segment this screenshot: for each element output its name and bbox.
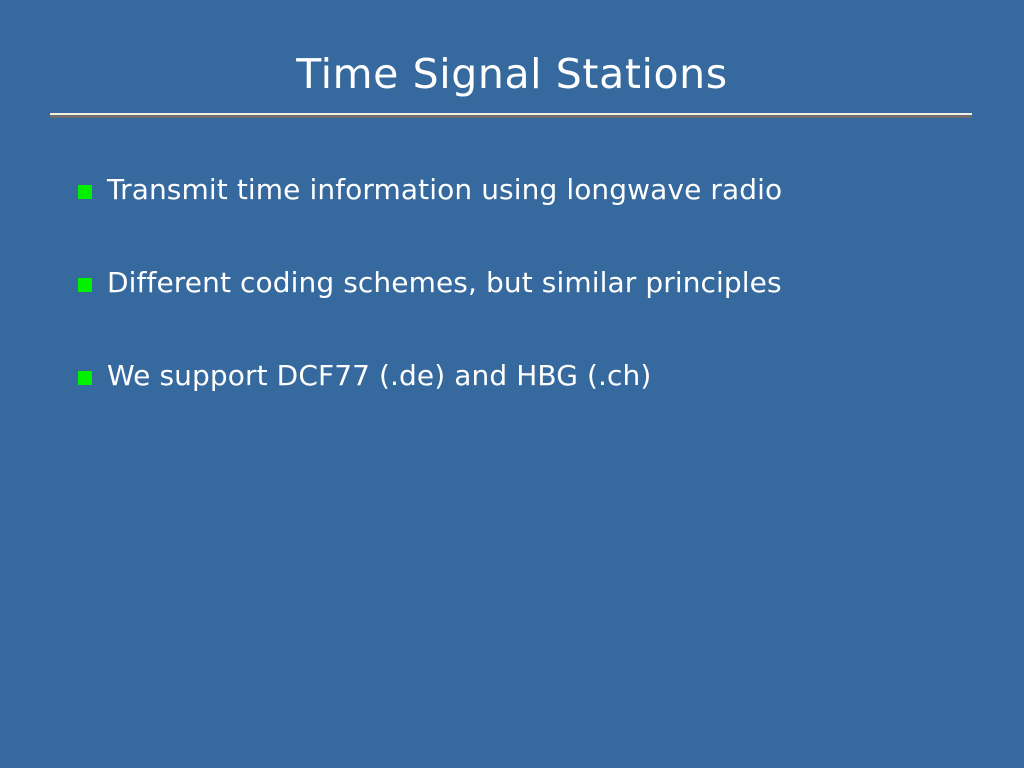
green-square-bullet-icon xyxy=(78,185,92,199)
list-item: Transmit time information using longwave… xyxy=(78,170,978,263)
list-item-label: Different coding schemes, but similar pr… xyxy=(107,263,978,303)
list-item: We support DCF77 (.de) and HBG (.ch) xyxy=(78,356,978,449)
title-divider-shadow xyxy=(50,115,972,118)
green-square-bullet-icon xyxy=(78,278,92,292)
list-item-label: We support DCF77 (.de) and HBG (.ch) xyxy=(107,356,978,396)
title-divider xyxy=(50,113,972,118)
list-item-label: Transmit time information using longwave… xyxy=(107,170,978,210)
list-item: Different coding schemes, but similar pr… xyxy=(78,263,978,356)
green-square-bullet-icon xyxy=(78,371,92,385)
page-title: Time Signal Stations xyxy=(0,48,1024,100)
bullet-list: Transmit time information using longwave… xyxy=(78,170,978,449)
slide-title-block: Time Signal Stations xyxy=(0,48,1024,100)
presentation-slide: Time Signal Stations Transmit time infor… xyxy=(0,0,1024,768)
